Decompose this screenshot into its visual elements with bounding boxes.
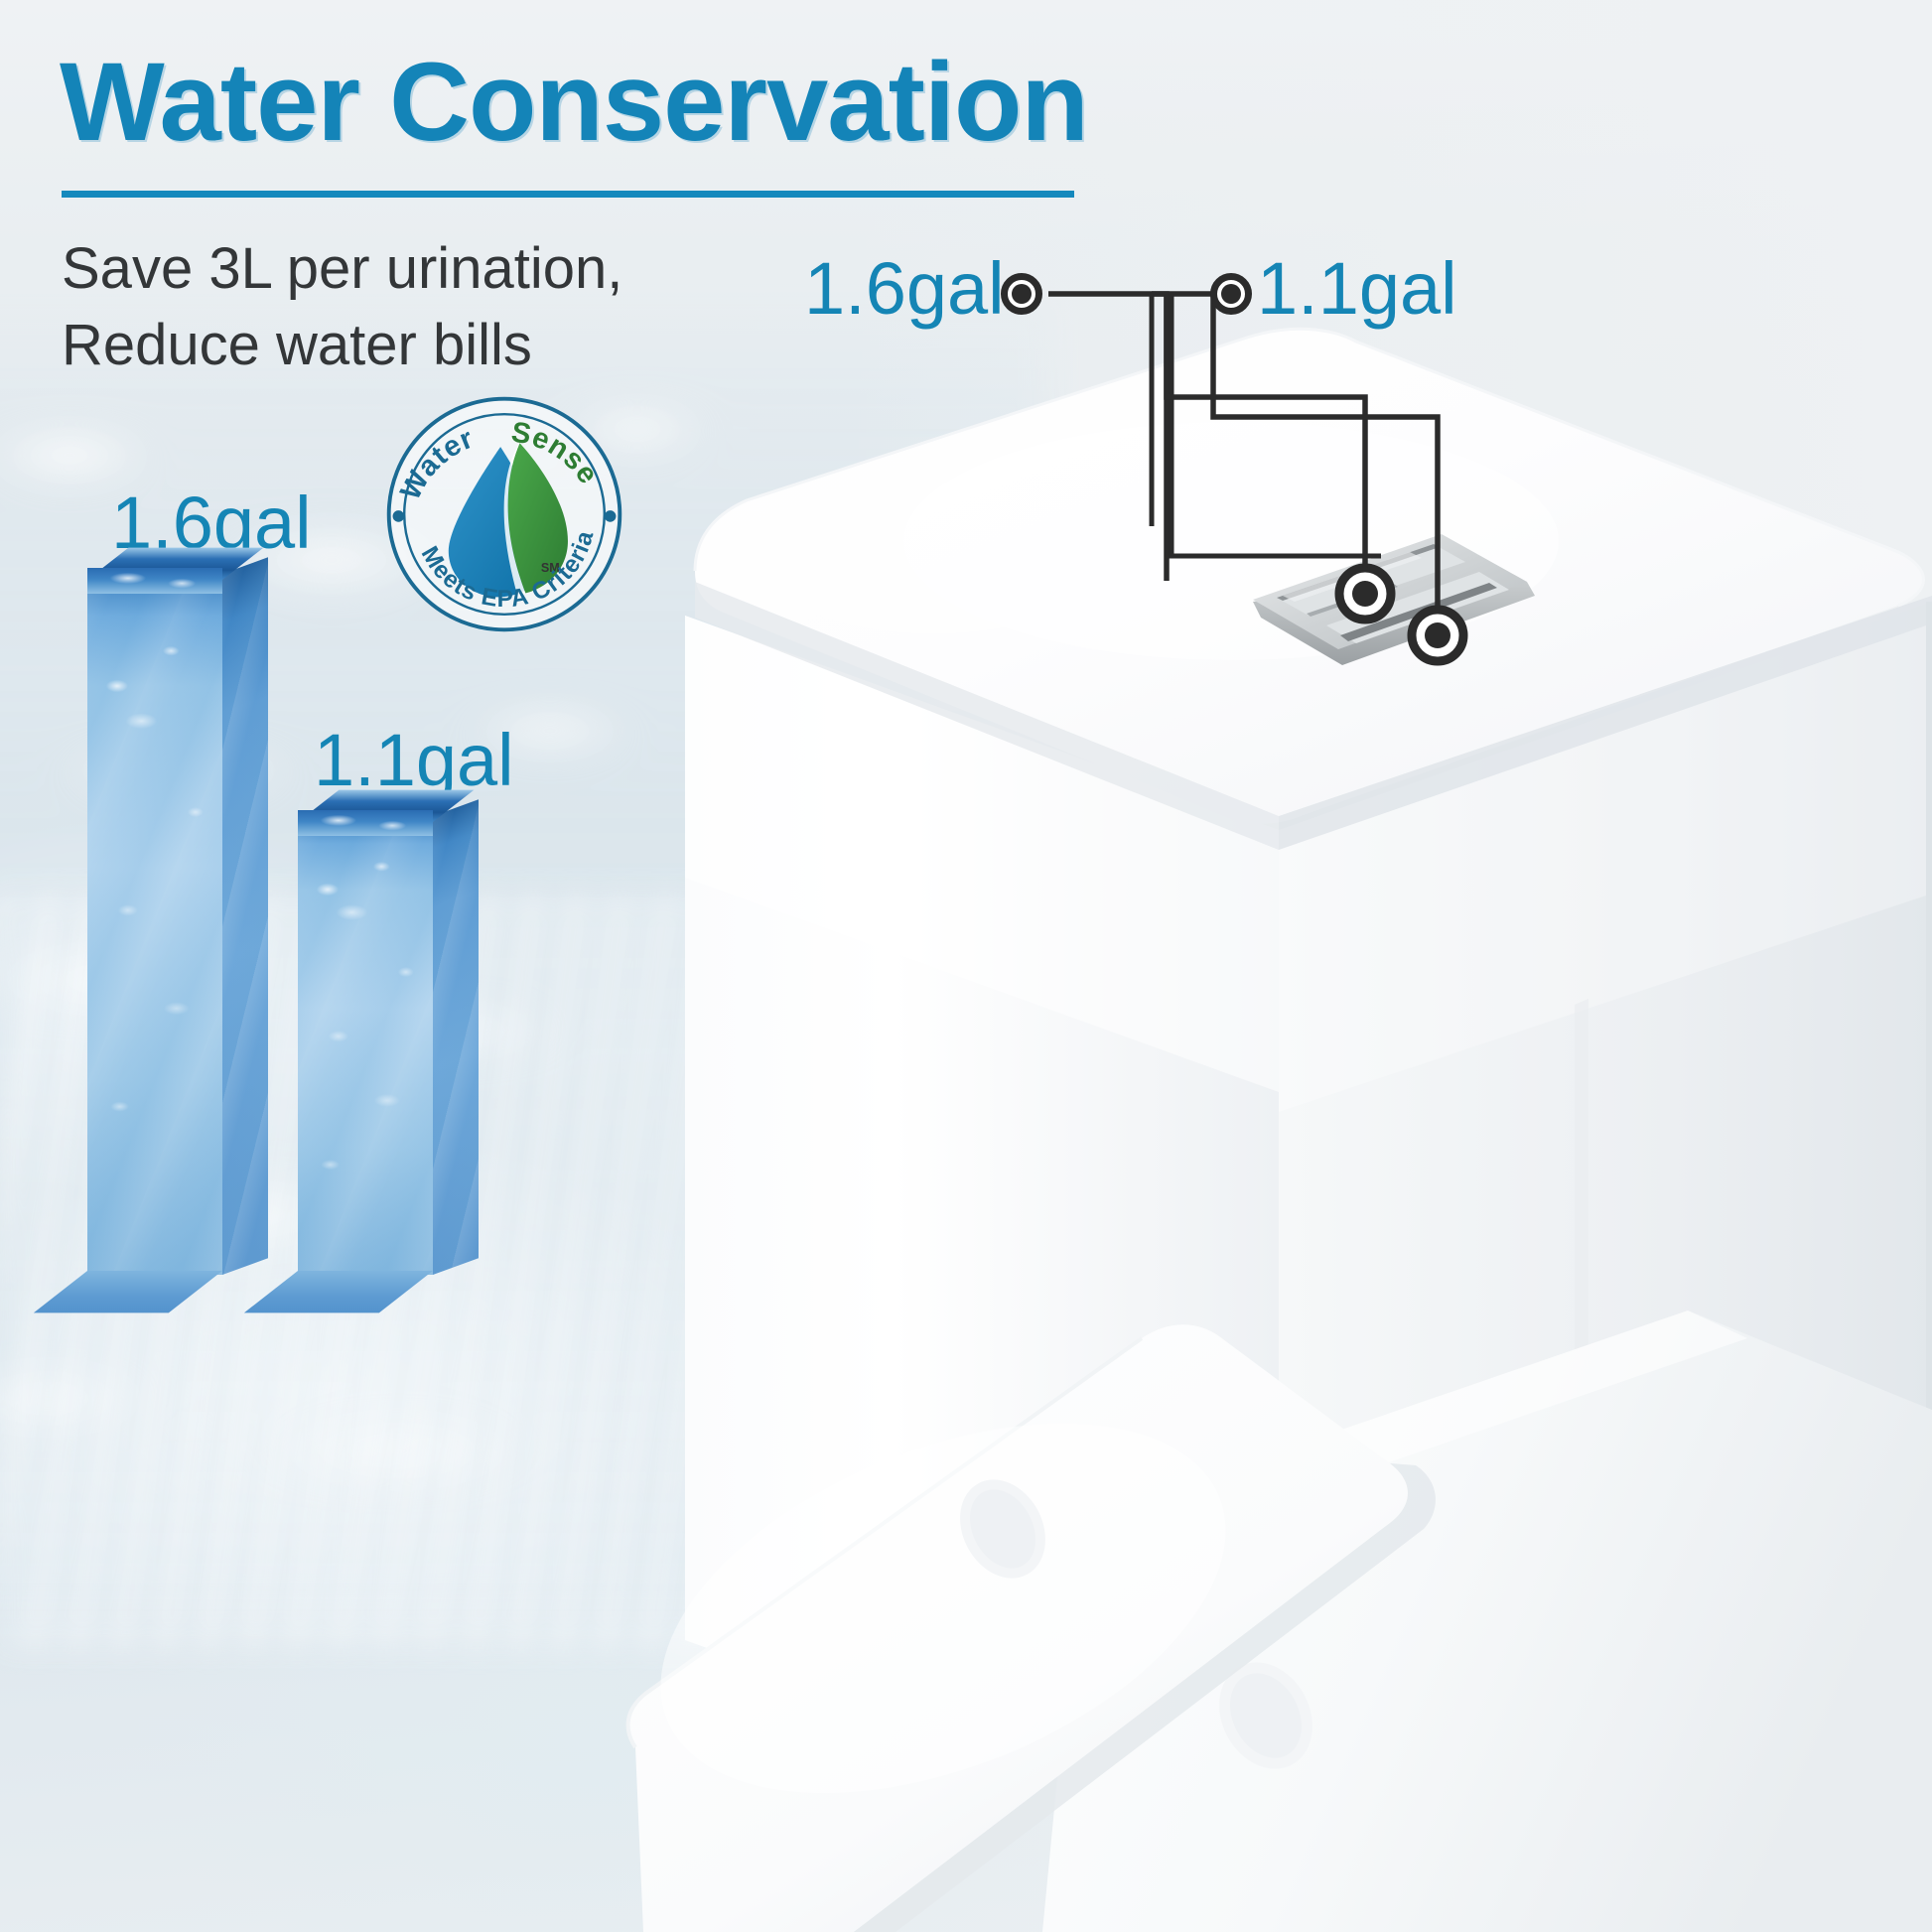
bar-water-surface: [298, 810, 433, 836]
bar-water-surface: [87, 568, 222, 594]
bar-side-face: [222, 557, 268, 1275]
infographic-canvas: Water Conservation Save 3L per urination…: [0, 0, 1932, 1932]
bar-side-face: [433, 799, 479, 1275]
callout-label-full-flush: 1.6gal: [804, 246, 1005, 331]
bar-full-flush: [87, 574, 222, 1275]
water-volume-bar-chart: 1.6gal 1.1gal: [0, 0, 695, 1440]
bar-front-face: [298, 816, 433, 1275]
bar-bottom-face: [244, 1271, 433, 1312]
callout-dot-full-flush: [1001, 273, 1042, 315]
bar-bottom-face: [34, 1271, 222, 1312]
bar-front-face: [87, 574, 222, 1275]
bar-half-flush: [298, 816, 433, 1275]
callout-dot-half-flush: [1210, 273, 1252, 315]
callout-label-half-flush: 1.1gal: [1257, 246, 1457, 331]
